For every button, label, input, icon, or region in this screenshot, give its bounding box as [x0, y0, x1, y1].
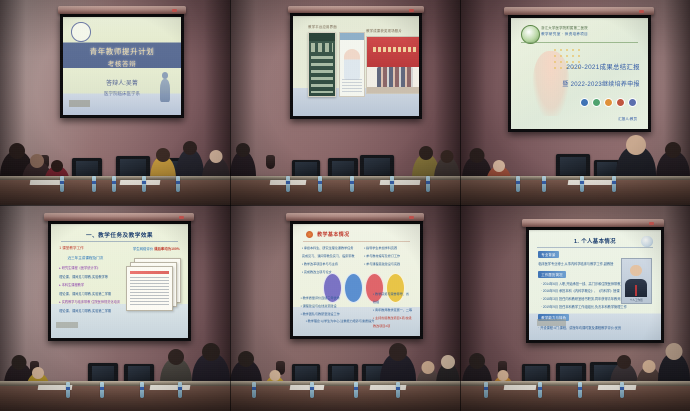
- water-bottle: [390, 176, 394, 192]
- list-item-highlight: ▪ 主持省级教改项目1项,校级: [373, 315, 414, 320]
- section-chip: 专业背景: [538, 251, 558, 258]
- bullet-item: ▸ 研究生课程《医学统计学》: [59, 265, 114, 270]
- documents: [150, 385, 191, 390]
- projector-screen-housing: [288, 6, 424, 13]
- water-bottle: [612, 176, 616, 192]
- water-bottle: [620, 382, 624, 398]
- slide-content: 1. 个人基本情况 专业背景 临床医学专业博士,从事内科学临床与教学工作,副教授…: [529, 230, 661, 340]
- bullet-item: 理论课、课间见习带教,实验第二学期: [59, 291, 114, 296]
- list-item: ▪ 青年教师教学竞赛一、二等: [373, 307, 414, 312]
- slide-main-line2: 暨 2022-2023继续培养申报: [562, 79, 639, 88]
- audience-foreground: [230, 123, 460, 205]
- section-text: 临床医学专业博士,从事内科学临床与教学工作,副教授: [538, 261, 613, 266]
- slide-title: 浙江大学医学院附属第二医院 教学研究室 · 师资培养项目 2020-2021成果…: [511, 18, 648, 129]
- section-chip: 工作履历简况: [538, 271, 566, 278]
- water-bottle: [286, 176, 290, 192]
- projector-screen: 1. 个人基本情况 专业背景 临床医学专业博士,从事内科学临床与教学工作,副教授…: [526, 227, 664, 343]
- list-item: ▪ 参与课程思政建设与实践: [364, 261, 412, 266]
- water-bottle: [142, 176, 146, 192]
- decorative-vase: [266, 155, 275, 169]
- slide-divider: [521, 42, 639, 43]
- water-bottle: [580, 176, 584, 192]
- slide-right-mid-column: ▪ 教学获奖与荣誉称号、省 校级 ▪ 青年教师教学竞赛一、二等 ▪ 主持省级教改…: [373, 291, 414, 331]
- audience-foreground: [460, 329, 690, 411]
- grid-seam-horizontal: [0, 205, 690, 206]
- water-bottle: [396, 382, 400, 398]
- slide-title: 一、教学任务及教学效果: [51, 231, 188, 239]
- slide-footer: ▪ 教学理念:以学生为中心,注重能力培养与素质提升: [306, 318, 375, 323]
- university-crest-icon: [71, 22, 91, 42]
- panel-top-middle: 教学平台应用界面 教学成果获奖现场照片: [230, 0, 460, 205]
- slide-label-red: 1 课堂教学工作: [59, 246, 84, 251]
- water-bottle: [92, 176, 96, 192]
- water-bottle: [178, 382, 182, 398]
- slide-divider: [61, 241, 179, 242]
- slide-corner-tag: [537, 319, 566, 326]
- panel-top-right: 浙江大学医学院附属第二医院 教学研究室 · 师资培养项目 2020-2021成果…: [460, 0, 690, 205]
- timeline-item: · 2014年6月 入职,开始承担一线、高门诊和住院医师带教工作: [541, 281, 627, 286]
- panel-top-left: 青年教师提升计划 考核答辩 答辩人:吴菁 医学院临床医学系: [0, 0, 230, 205]
- audience-foreground: [0, 123, 230, 205]
- water-bottle: [60, 176, 64, 192]
- water-bottle: [100, 382, 104, 398]
- list-item: ▪ 教学获奖与荣誉称号、省: [373, 291, 414, 296]
- audience-foreground: [460, 123, 690, 205]
- list-item-highlight: 教改项目2项: [373, 323, 414, 328]
- water-bottle: [426, 176, 430, 192]
- list-item: 完成见习、课间带教及实习、临床带教: [302, 253, 353, 258]
- water-bottle: [542, 176, 546, 192]
- slide-bullet-list: ▸ 研究生课程《医学统计学》 理论课、课间见习带教,实验教学等 ▸ 本科生课程教…: [59, 265, 114, 316]
- list-item: ▪ 承担本科生、研究生理论课教学任务: [302, 245, 353, 250]
- water-bottle: [318, 176, 322, 192]
- projector-screen: 教学平台应用界面 教学成果获奖现场照片: [290, 13, 422, 119]
- timeline-item: · 2018年3月 担任内科教研室秘书职务,同年获得青年教师二等奖: [541, 296, 630, 301]
- documents: [568, 180, 613, 185]
- list-item: ▪ 指导学生参加学科竞赛: [364, 245, 412, 250]
- timeline-item: · 2016年9月 承担本科《内科学概论》、《内科学》授课: [541, 288, 620, 293]
- slide-label-right: 学生网络评价 课后率均为100%: [133, 246, 180, 251]
- projector-screen-housing: [504, 7, 654, 15]
- panel-bottom-right: 1. 个人基本情况 专业背景 临床医学专业博士,从事内科学临床与教学工作,副教授…: [460, 205, 690, 411]
- slide-content: 教学基本情况 ▪ 承担本科生、研究生理论课教学任务 完成见习、课间带教及实习、临…: [293, 224, 420, 336]
- slide-right-column: ▪ 指导学生参加学科竞赛 ▪ 参与教材编写及修订工作 ▪ 参与课程思政建设与实践: [364, 245, 412, 269]
- audience-foreground: [0, 329, 230, 411]
- water-bottle: [354, 382, 358, 398]
- list-item: ▪ 课程建设与在线资源建设: [301, 303, 354, 308]
- projector-screen-housing: [286, 213, 424, 221]
- slide-header-line1: 浙江大学医学院附属第二医院: [541, 25, 588, 30]
- projector-screen-housing: [522, 219, 664, 227]
- water-bottle: [578, 382, 582, 398]
- projector-screen: 一、教学任务及教学效果 1 课堂教学工作 近三年主讲课程及门次 学生网络评价 课…: [48, 221, 191, 341]
- documents: [504, 385, 537, 390]
- slide-caption-left: 教学平台应用界面: [308, 24, 337, 29]
- water-bottle: [140, 382, 144, 398]
- slide-corner-tag: [69, 100, 90, 107]
- projector-screen: 教学基本情况 ▪ 承担本科生、研究生理论课教学任务 完成见习、课间带教及实习、临…: [290, 221, 423, 339]
- photo-grid: 青年教师提升计划 考核答辩 答辩人:吴菁 医学院临床医学系: [0, 0, 690, 411]
- conference-table-front: [460, 386, 690, 411]
- water-bottle: [112, 176, 116, 192]
- conference-table-front: [0, 386, 230, 411]
- projector-screen-housing: [44, 213, 194, 221]
- slide-icon-row: [580, 98, 637, 107]
- timeline-item: · 2019年9月 担任本科教学工作组组长,负责本科教学管理工作: [541, 304, 627, 309]
- poster-screenshot: [339, 32, 365, 97]
- slide-content: 一、教学任务及教学效果 1 课堂教学工作 近三年主讲课程及门次 学生网络评价 课…: [51, 224, 188, 338]
- water-bottle: [538, 382, 542, 398]
- slide-label-right-text: 学生网络评价: [133, 247, 153, 251]
- water-bottle: [516, 176, 520, 192]
- slide-title: 青年教师提升计划 考核答辩 答辩人:吴菁 医学院临床医学系: [63, 17, 181, 115]
- documents: [370, 385, 407, 390]
- screenshot-group: [308, 32, 365, 97]
- slide-label-right-value: 课后率均为100%: [154, 247, 180, 251]
- water-bottle: [176, 176, 180, 192]
- panel-bottom-middle: 教学基本情况 ▪ 承担本科生、研究生理论课教学任务 完成见习、课间带教及实习、临…: [230, 205, 460, 411]
- slide-caption-right: 教学成果获奖现场照片: [366, 28, 402, 33]
- list-item: ▪ 教学改革项目参与与主持: [302, 261, 353, 266]
- projector-screen: 浙江大学医学院附属第二医院 教学研究室 · 师资培养项目 2020-2021成果…: [508, 15, 651, 132]
- slide-images: 教学平台应用界面 教学成果获奖现场照片: [293, 16, 419, 116]
- bullet-item: ▸ 实践教学与临床带教 住院医师规范化培训: [59, 299, 114, 304]
- award-ceremony-photo: [366, 36, 419, 94]
- portrait-photo: 个人工作照: [621, 258, 652, 304]
- list-item: ▪ 教学团队与教研室建设工作: [301, 311, 354, 316]
- water-bottle: [66, 382, 70, 398]
- list-item: 校级: [373, 299, 414, 304]
- list-item: ▪ 教学质量评价连续三年优秀: [301, 295, 354, 300]
- slide-title: 教学基本情况: [317, 231, 349, 238]
- slide-divider: [303, 241, 410, 242]
- photo-caption: 个人工作照: [622, 298, 651, 302]
- panel-bottom-left: 一、教学任务及教学效果 1 课堂教学工作 近三年主讲课程及门次 学生网络评价 课…: [0, 205, 230, 411]
- slide-presenter: 汇报人:教员: [618, 117, 637, 122]
- slide-document-stack: [126, 258, 181, 310]
- slide-mid-column: ▪ 教学质量评价连续三年优秀 ▪ 课程建设与在线资源建设 ▪ 教学团队与教研室建…: [301, 295, 354, 319]
- slide-title-line1: 青年教师提升计划: [63, 46, 181, 57]
- documents: [380, 180, 421, 185]
- slide-figure-icon: [160, 79, 171, 103]
- section-badge-icon: [306, 231, 314, 239]
- bullet-item: 理论课、课间见习带教,实验第二学期: [59, 308, 114, 313]
- water-bottle: [310, 382, 314, 398]
- slide-label-sub: 近三年主讲课程及门次: [67, 256, 103, 261]
- mobile-app-screenshot: [308, 32, 336, 97]
- documents: [290, 385, 325, 390]
- slide-corner-tag: [56, 322, 78, 328]
- bullet-item: ▸ 本科生课程教学: [59, 282, 114, 287]
- documents: [598, 385, 637, 390]
- list-item: ▪ 参与教材编写及修订工作: [364, 253, 412, 258]
- water-bottle: [252, 382, 256, 398]
- slide-divider: [537, 247, 653, 248]
- audience-foreground: [230, 329, 460, 411]
- bullet-item: 理论课、课间见习带教,实验教学等: [59, 274, 114, 279]
- water-bottle: [350, 176, 354, 192]
- conference-table-front: [230, 386, 460, 411]
- slide-title-line2: 考核答辩: [63, 58, 181, 68]
- water-bottle: [484, 382, 488, 398]
- projector-screen-housing: [58, 6, 186, 14]
- slide-header-line2: 教学研究室 · 师资培养项目: [541, 32, 588, 37]
- projector-screen: 青年教师提升计划 考核答辩 答辩人:吴菁 医学院临床医学系: [60, 14, 184, 118]
- documents: [120, 180, 161, 185]
- slide-main-line1: 2020-2021成果总结汇报: [566, 62, 639, 71]
